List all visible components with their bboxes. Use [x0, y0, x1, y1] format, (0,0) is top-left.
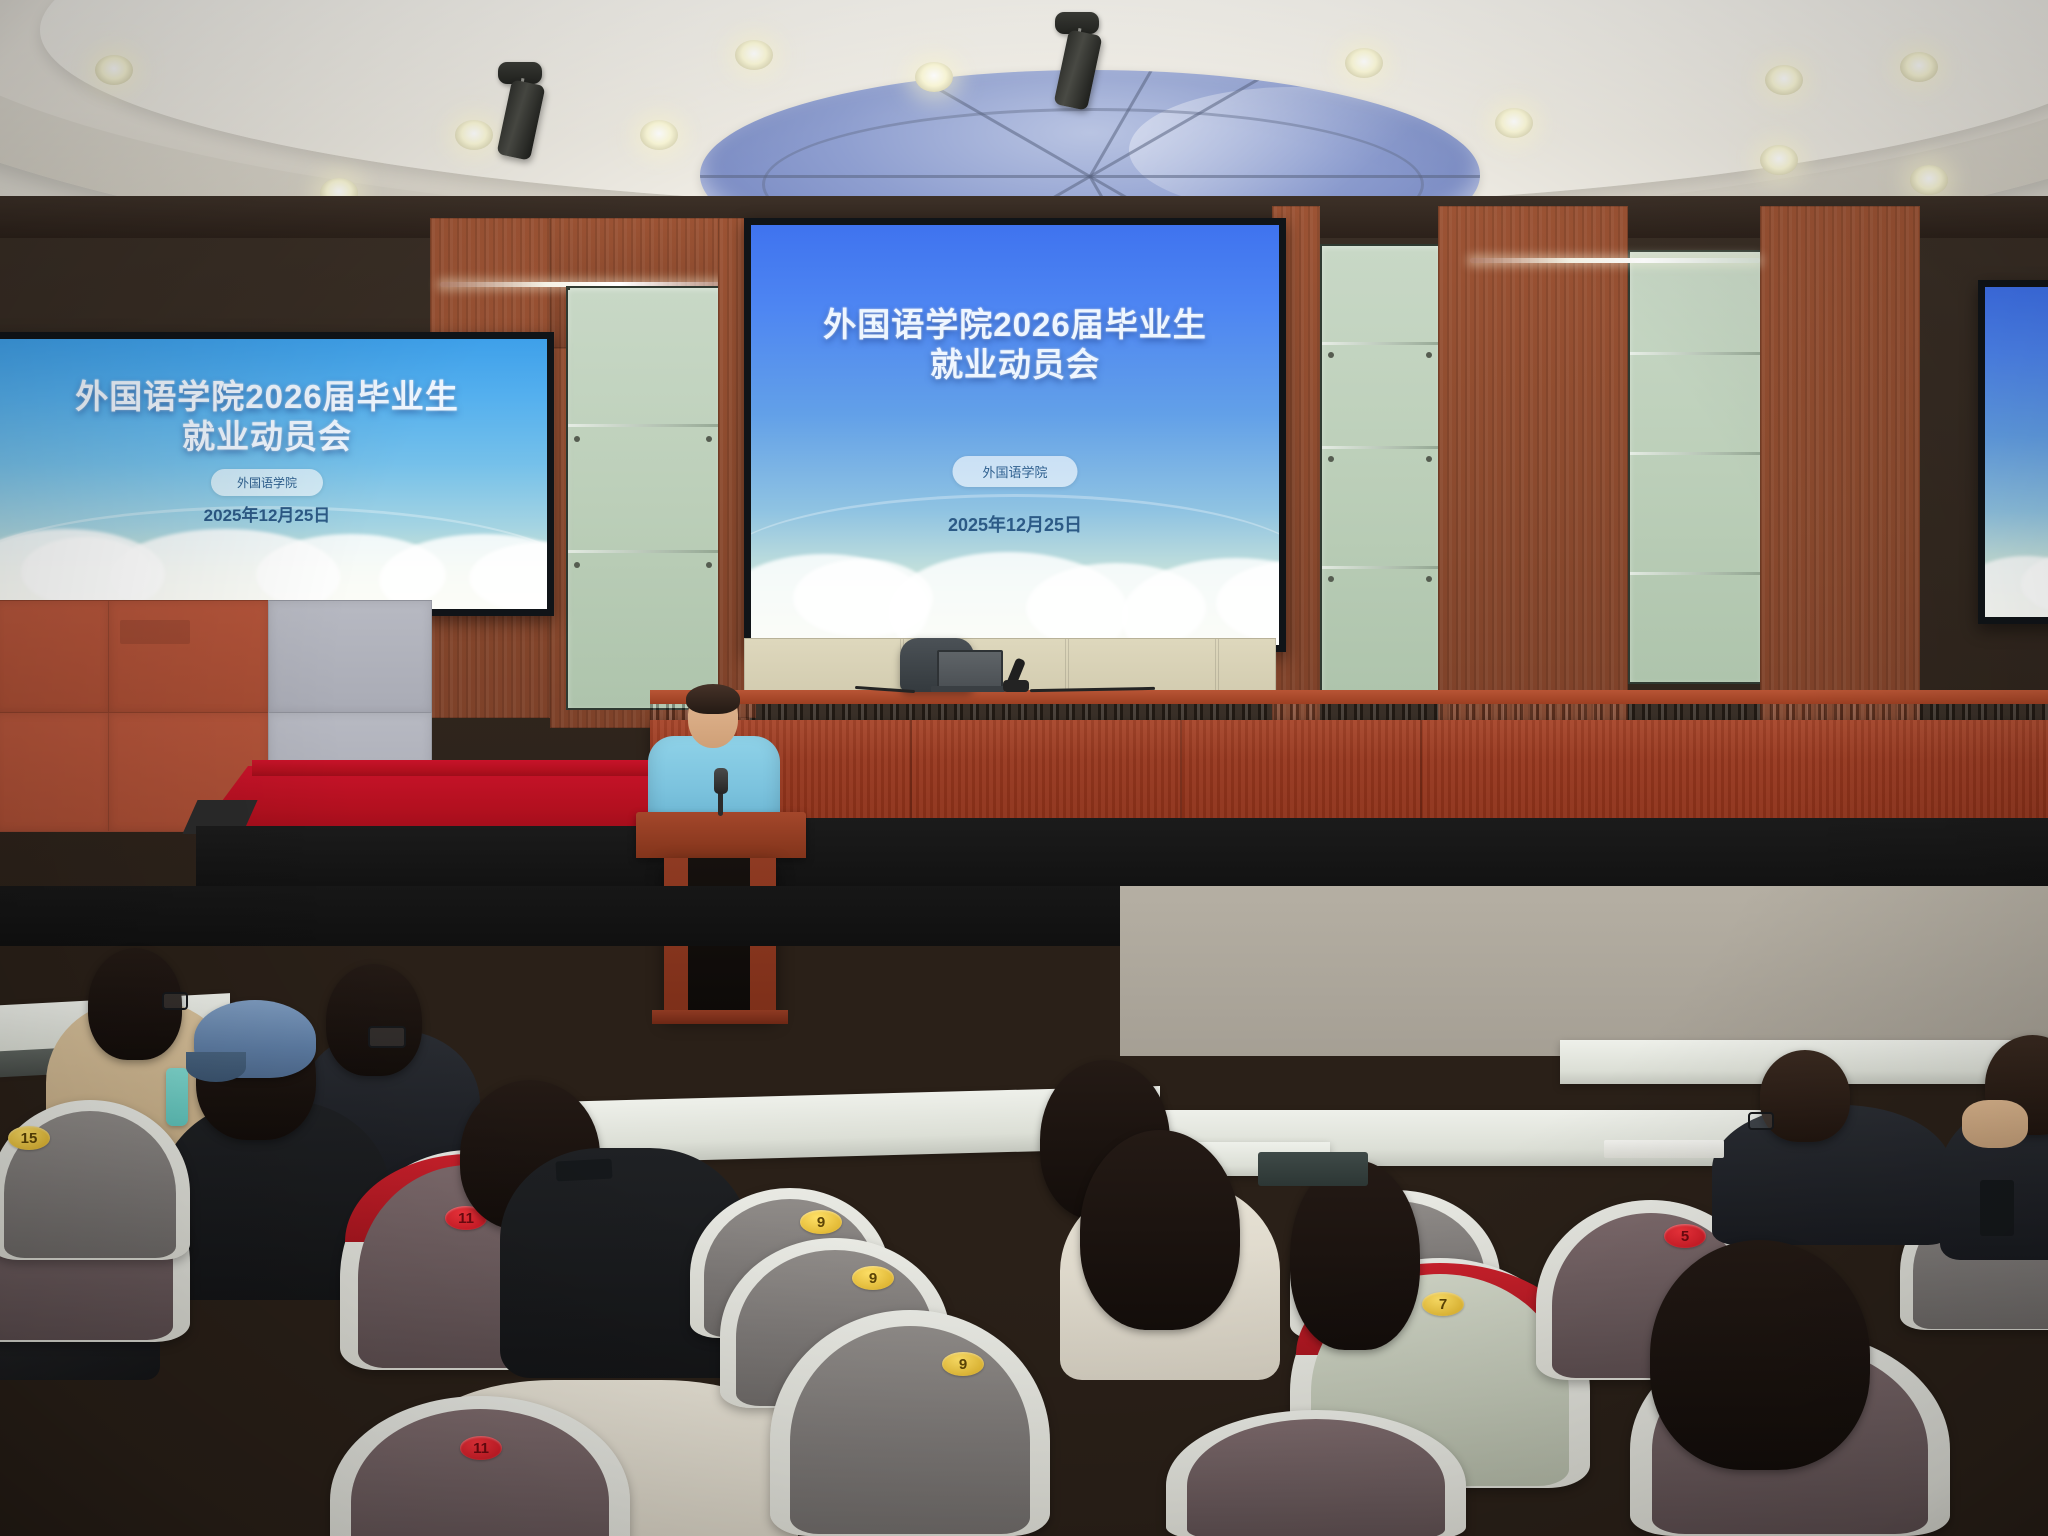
seat-number-badge: 9	[800, 1210, 842, 1234]
student-head	[1080, 1130, 1240, 1330]
front-riser	[0, 886, 1120, 946]
glass-wall-panel	[1628, 250, 1764, 684]
table-microphone-base	[1003, 680, 1029, 692]
stage-backdrop-seam	[1215, 638, 1219, 698]
wall-vent	[120, 620, 190, 644]
ceiling-downlight-icon	[1345, 48, 1383, 78]
glass-wall-panel	[566, 286, 722, 710]
glass-screw	[574, 562, 580, 568]
seat-number-badge: 15	[8, 1126, 50, 1150]
acoustic-panel	[0, 600, 110, 714]
student-head	[1290, 1160, 1420, 1350]
glass-divider	[1322, 446, 1440, 449]
ceiling-downlight-icon	[1495, 108, 1533, 138]
glass-screw	[574, 436, 580, 442]
slide-title-line2: 就业动员会	[751, 345, 1279, 385]
phone	[1980, 1180, 2014, 1236]
podium-base	[652, 1010, 788, 1024]
laptop-base	[931, 686, 1005, 692]
ceiling-downlight-icon	[1760, 145, 1798, 175]
glass-screw	[706, 436, 712, 442]
ceiling-downlight-icon	[915, 62, 953, 92]
auditorium-seat: 15	[0, 1100, 190, 1260]
glass-screw	[1328, 456, 1334, 462]
ceiling-downlight-icon	[735, 40, 773, 70]
slide-date: 2025年12月25日	[0, 501, 547, 526]
acoustic-panel	[0, 712, 110, 832]
slide-date: 2025年12月25日	[751, 511, 1279, 537]
right-projection-screen	[1978, 280, 2048, 624]
podium-microphone-head-icon	[714, 768, 728, 794]
slide-badge: 外国语学院	[211, 469, 323, 496]
dome-rib	[700, 175, 1090, 178]
stage-table-front	[650, 720, 2048, 822]
glass-screw	[1426, 576, 1432, 582]
ceiling-downlight-icon	[640, 120, 678, 150]
wall-strip-light-icon	[1470, 258, 1760, 263]
attendee-head	[1760, 1050, 1850, 1142]
wood-wall-panel	[1760, 206, 1920, 726]
glass-screw	[1328, 576, 1334, 582]
stage-table-top	[650, 690, 2048, 704]
dome-rib	[1090, 175, 1480, 178]
glass-wall-panel	[1320, 244, 1442, 698]
acoustic-panel	[268, 600, 432, 714]
glass-screw	[706, 562, 712, 568]
aisle-floor	[1120, 886, 2048, 1056]
slide-title-line1: 外国语学院2026届毕业生	[751, 305, 1279, 345]
glass-screw	[1426, 352, 1432, 358]
eyeglasses	[162, 992, 188, 1010]
slide-clouds	[1985, 465, 2048, 617]
main-slide: 外国语学院2026届毕业生 就业动员会 外国语学院 2025年12月25日	[751, 225, 1279, 645]
podium-top	[636, 812, 806, 858]
cap-brim	[186, 1052, 246, 1082]
glass-screw	[1328, 352, 1334, 358]
left-slide: 外国语学院2026届毕业生 就业动员会 外国语学院 2025年12月25日	[0, 339, 547, 609]
left-projection-screen: 外国语学院2026届毕业生 就业动员会 外国语学院 2025年12月25日	[0, 332, 554, 616]
wood-wall-panel	[1438, 206, 1628, 726]
ceiling-downlight-icon	[95, 55, 133, 85]
glass-divider	[1630, 452, 1762, 455]
glass-divider	[568, 424, 720, 427]
slide-badge: 外国语学院	[952, 456, 1077, 487]
stage-table-seam	[1420, 720, 1422, 822]
seat-number-badge: 9	[852, 1266, 894, 1290]
seat-number-badge: 9	[942, 1352, 984, 1376]
stage-table-seam	[910, 720, 912, 822]
slide-title-line2: 就业动员会	[0, 417, 547, 457]
ceiling-downlight-icon	[1910, 165, 1948, 195]
auditorium-seat	[1166, 1410, 1466, 1536]
seat-number-badge: 7	[1422, 1292, 1464, 1316]
glass-divider	[568, 550, 720, 553]
auditorium-photo: 外国语学院2026届毕业生 就业动员会 外国语学院 2025年12月25日 外国…	[0, 0, 2048, 1536]
notebook	[1604, 1140, 1724, 1158]
student-head	[1650, 1240, 1870, 1470]
seat-number-badge: 5	[1664, 1224, 1706, 1248]
auditorium-seat: 11	[330, 1396, 630, 1536]
slide-title: 外国语学院2026届毕业生 就业动员会	[0, 377, 547, 458]
ceiling-downlight-icon	[455, 120, 493, 150]
main-projection-screen: 外国语学院2026届毕业生 就业动员会 外国语学院 2025年12月25日	[744, 218, 1286, 652]
acoustic-panel	[108, 600, 270, 714]
glass-divider	[1630, 352, 1762, 355]
student-head	[326, 964, 422, 1076]
slide-title: 外国语学院2026届毕业生 就业动员会	[751, 305, 1279, 386]
stage-table-seam	[1180, 720, 1182, 822]
phone	[556, 1159, 613, 1182]
ceiling-downlight-icon	[1900, 52, 1938, 82]
glass-divider	[1322, 566, 1440, 569]
glass-divider	[1630, 572, 1762, 575]
stage-table-trim	[650, 704, 2048, 720]
right-slide	[1985, 287, 2048, 617]
auditorium-seat: 9	[770, 1310, 1050, 1536]
laptop-on-desk	[1258, 1152, 1368, 1186]
seat-number-badge: 11	[460, 1436, 502, 1460]
ceiling-downlight-icon	[1765, 65, 1803, 95]
stage-front-panel	[650, 818, 2048, 888]
glass-screw	[1426, 456, 1432, 462]
glass-filler	[566, 286, 570, 290]
eyeglasses	[368, 1026, 406, 1048]
slide-title-line1: 外国语学院2026届毕业生	[0, 377, 547, 417]
attendee-hand	[1962, 1100, 2028, 1148]
speaker-hair	[686, 684, 740, 714]
eyeglasses	[1748, 1112, 1774, 1130]
glass-divider	[1322, 342, 1440, 345]
